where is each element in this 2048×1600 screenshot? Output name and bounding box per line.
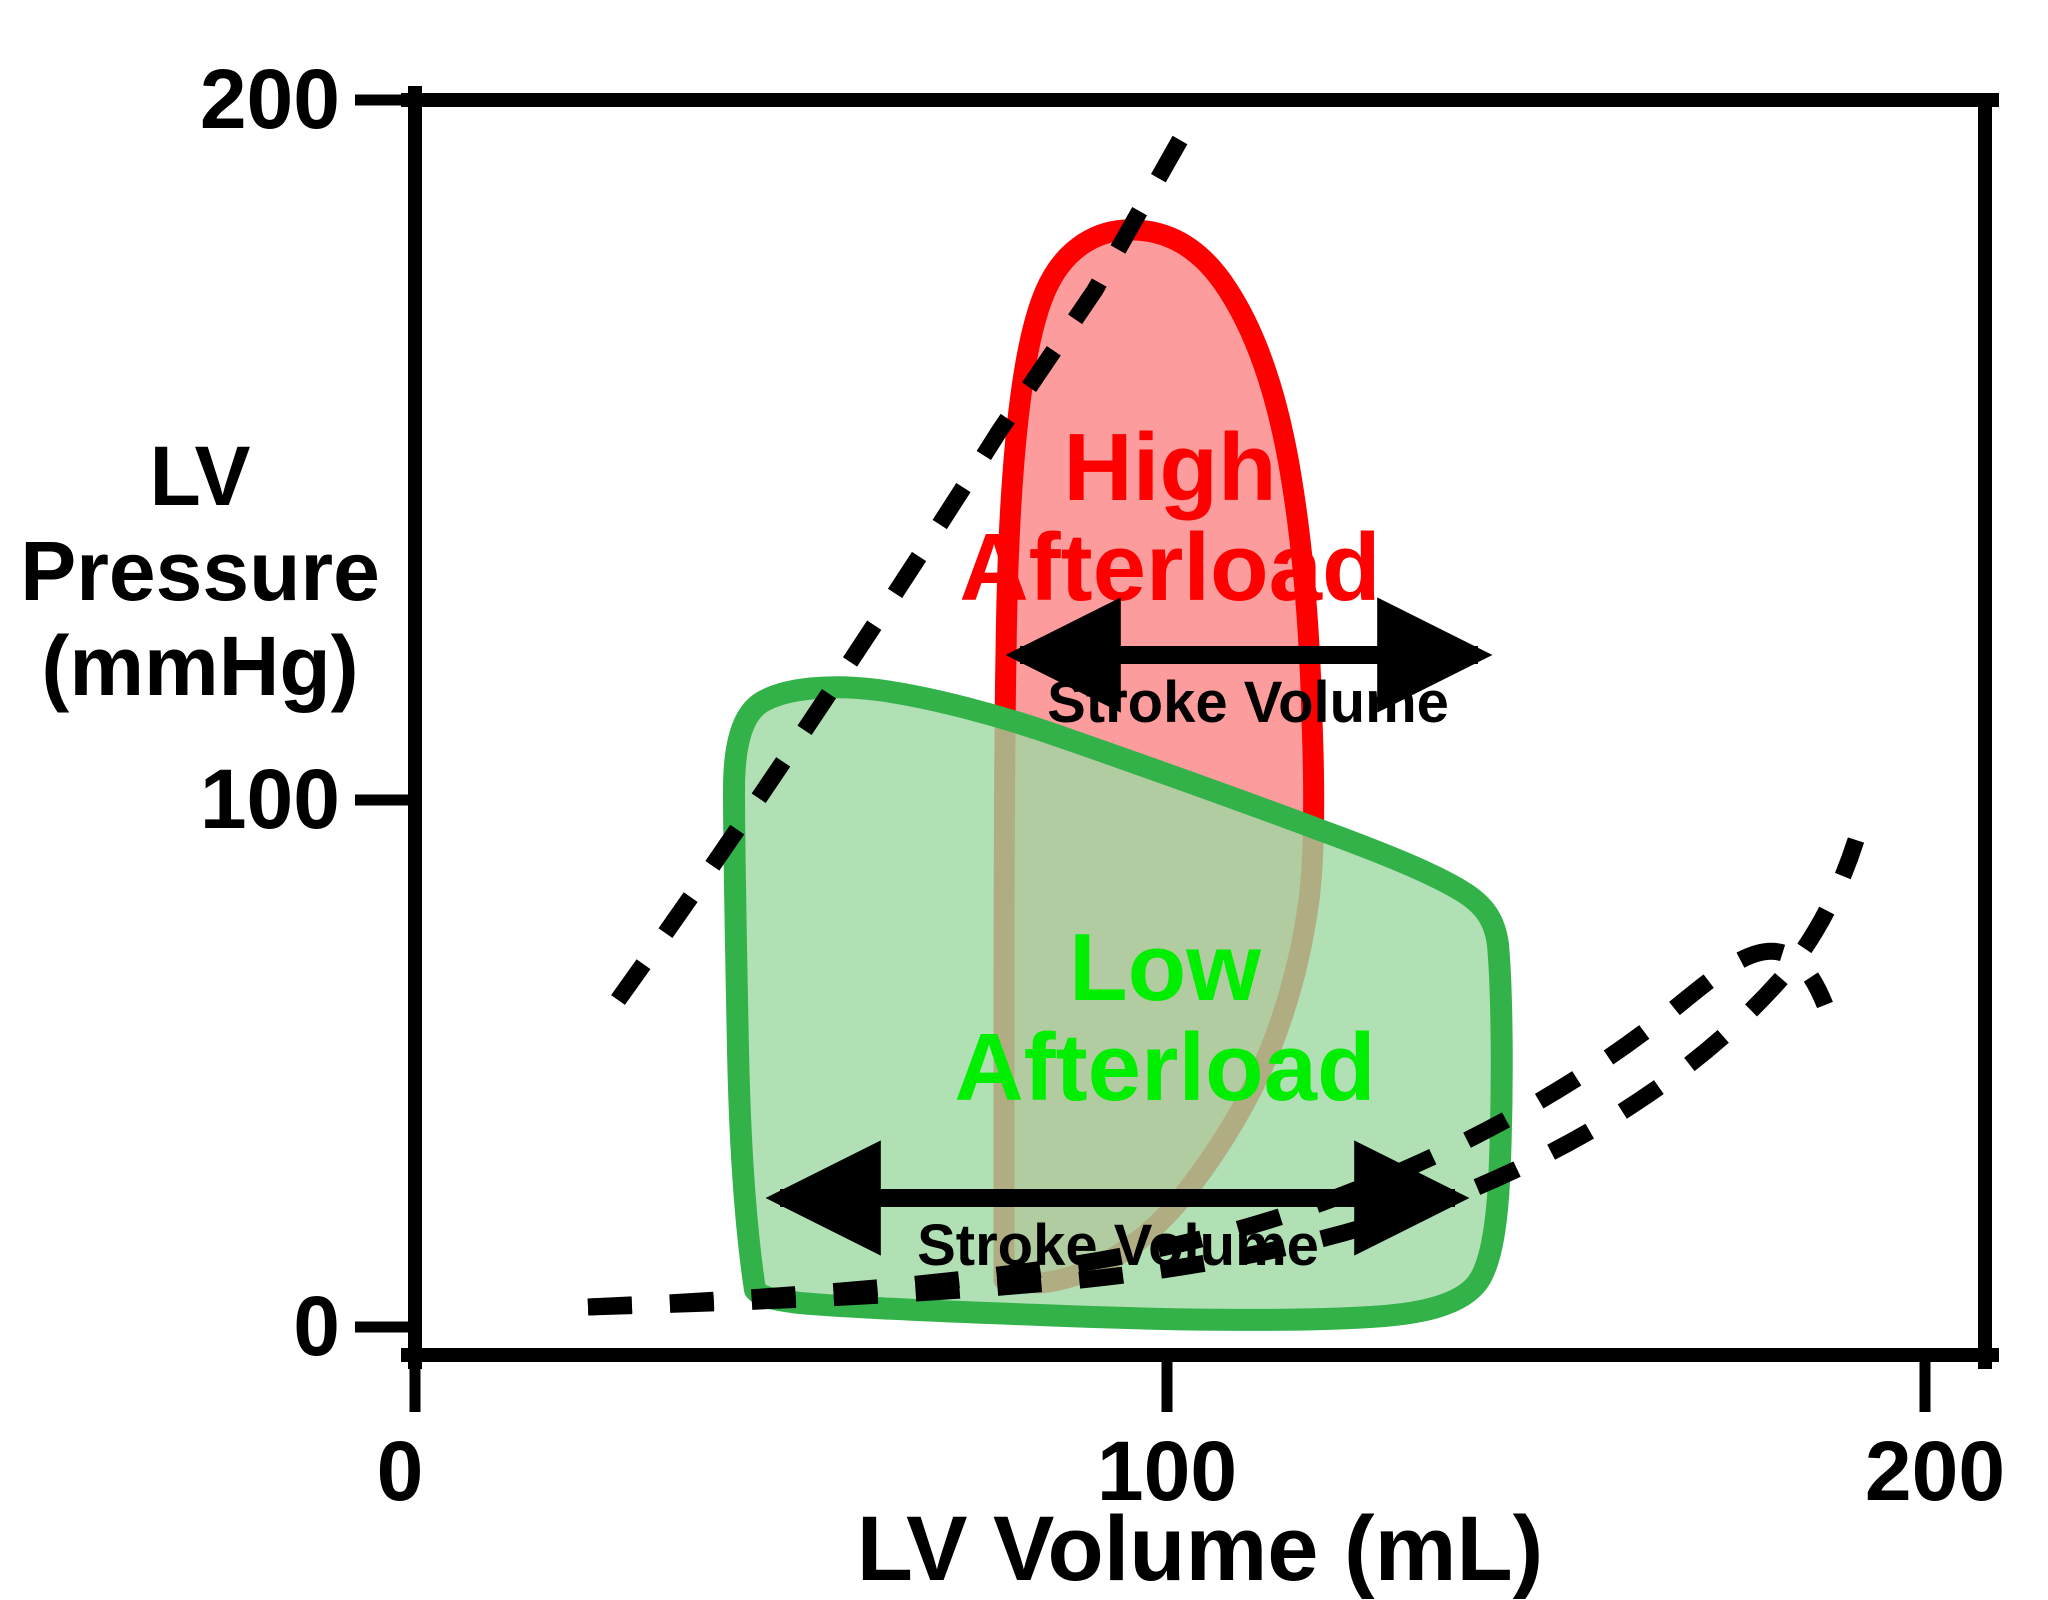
- x-tick-label-0: 0: [377, 1424, 424, 1518]
- y-axis-title-line2: Pressure: [20, 524, 380, 618]
- high-afterload-label-line2: Afterload: [959, 514, 1380, 621]
- low-afterload-label-line1: Low: [1069, 914, 1261, 1021]
- y-tick-label-200: 200: [200, 52, 340, 146]
- x-tick-label-200: 200: [1865, 1424, 2005, 1518]
- low-afterload-label-line2: Afterload: [954, 1014, 1375, 1121]
- high-afterload-stroke-volume-label: Stroke Volume: [1047, 670, 1449, 735]
- high-afterload-label-line1: High: [1063, 414, 1276, 521]
- y-tick-label-100: 100: [200, 752, 340, 846]
- y-axis-title-line3: (mmHg): [41, 619, 358, 713]
- y-tick-label-0: 0: [293, 1279, 340, 1373]
- x-axis-title: LV Volume (mL): [857, 1498, 1544, 1600]
- pv-loop-figure: High Afterload Stroke Volume Low Afterlo…: [0, 0, 2048, 1600]
- low-afterload-stroke-volume-label: Stroke Volume: [917, 1213, 1319, 1278]
- chart-canvas: High Afterload Stroke Volume Low Afterlo…: [0, 0, 2048, 1600]
- y-axis-title-line1: LV: [149, 429, 250, 523]
